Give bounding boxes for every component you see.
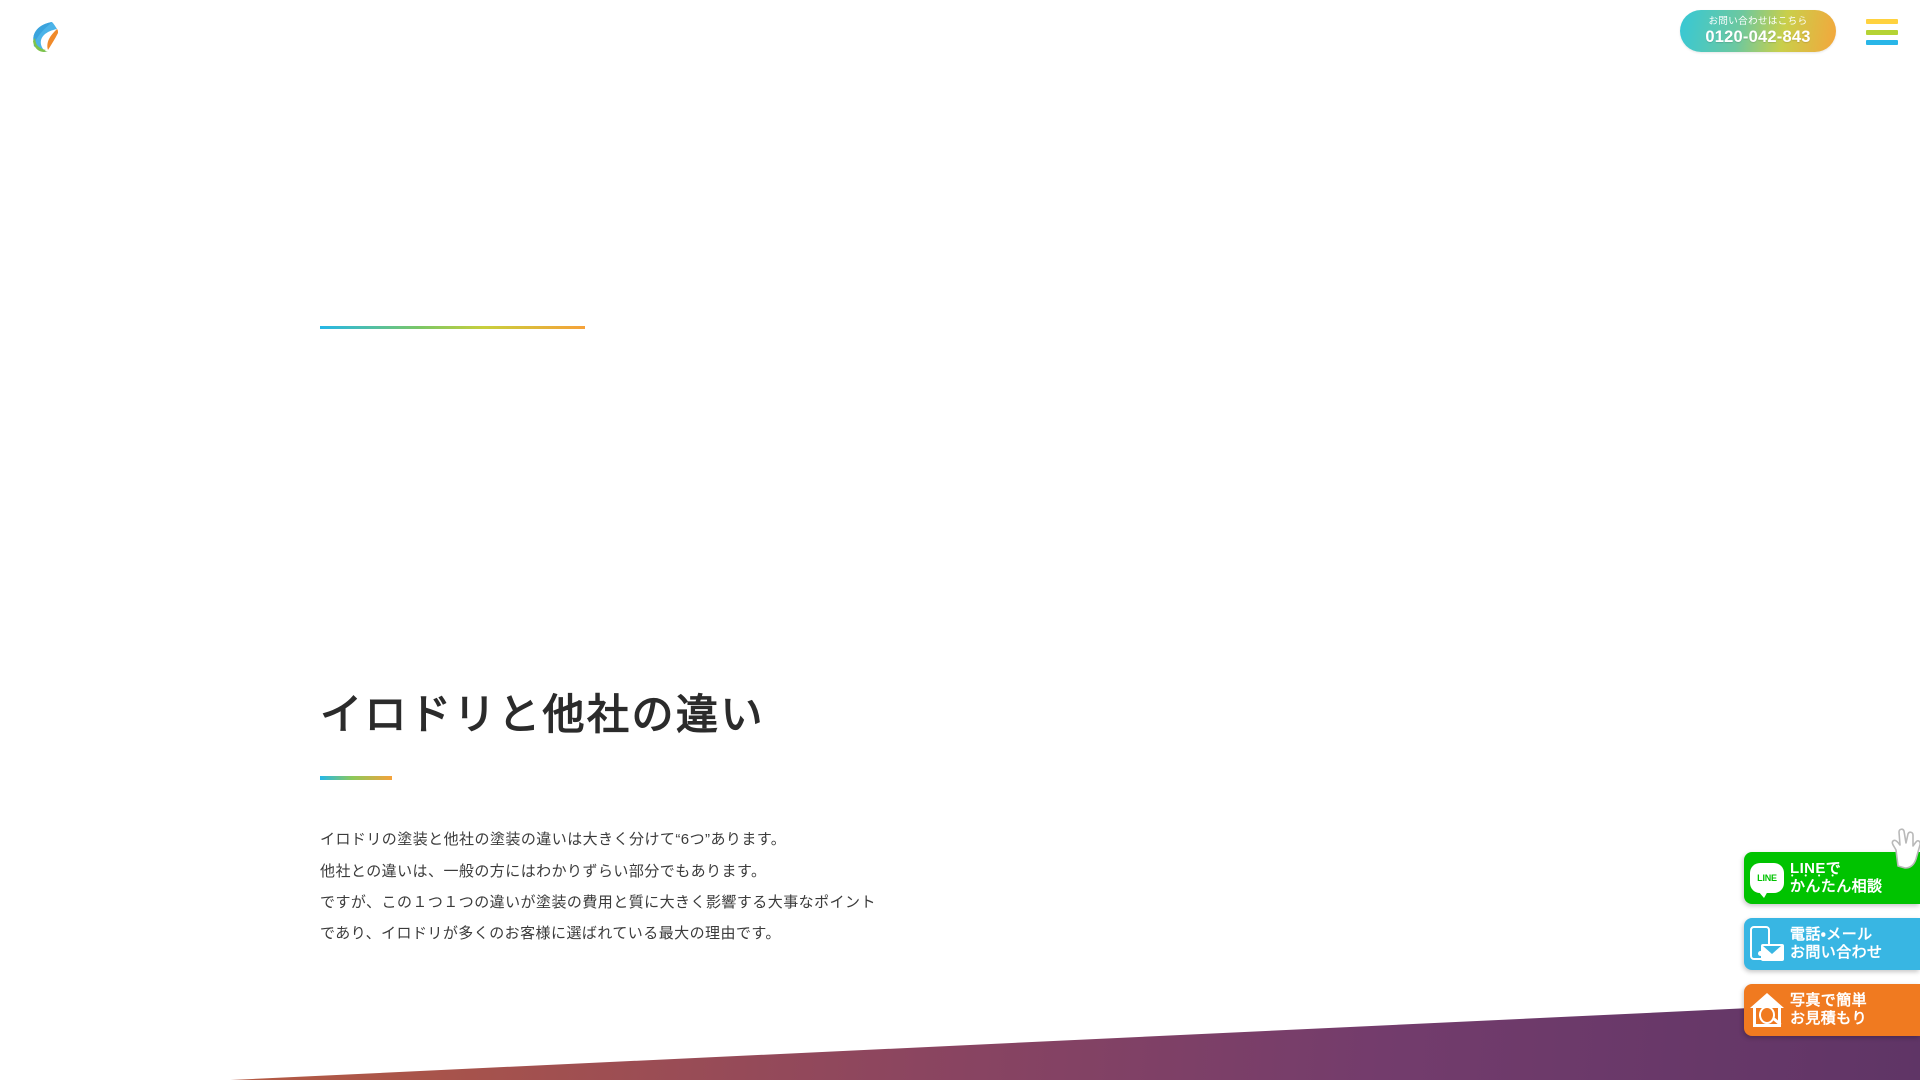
hamburger-bar-2 (1866, 30, 1898, 35)
body-line-3: ですが、この１つ１つの違いが塗装の費用と質に大きく影響する大事なポイント (320, 887, 940, 918)
phone-mail-contact-button[interactable]: 電話・メール お問い合わせ (1744, 918, 1920, 970)
photo-estimate-button-text: 写真で簡単 お見積もり (1790, 992, 1875, 1027)
hamburger-menu-icon[interactable] (1866, 19, 1898, 45)
line-logo-text: LINE (1757, 873, 1777, 883)
line-consult-button[interactable]: LINE LINEで かんたん相談 (1744, 852, 1920, 904)
phone-mail-button-text: 電話・メール お問い合わせ (1790, 926, 1890, 961)
house-magnifier-shape (1750, 993, 1784, 1027)
envelope-shape (1761, 944, 1784, 961)
section-text-column: イロドリと他社の違い イロドリの塗装と他社の塗装の違いは大きく分けて“6つ”あり… (320, 690, 940, 949)
bottom-diagonal-banner (0, 1000, 1920, 1080)
contact-kicker: お問い合わせはこちら (1708, 17, 1807, 27)
page-title: イロドリと他社の違い (320, 690, 940, 740)
line-bubble-shape: LINE (1750, 863, 1784, 893)
line-icon: LINE (1744, 852, 1790, 904)
contact-phone-number: 0120-042-843 (1705, 29, 1810, 46)
line-label-2: かんたん相談 (1790, 878, 1882, 896)
section-body-text: イロドリの塗装と他社の塗装の違いは大きく分けて“6つ”あります。 他社との違いは… (320, 824, 940, 949)
hero-gradient-divider (320, 326, 585, 329)
phone-mail-label-2: お問い合わせ (1790, 944, 1882, 962)
hamburger-bar-1 (1866, 19, 1898, 24)
magnifier-lens (1759, 1006, 1775, 1024)
house-search-icon (1744, 984, 1790, 1036)
site-header: お問い合わせはこちら 0120-042-843 (0, 0, 1920, 70)
site-logo[interactable] (22, 14, 66, 58)
body-line-4: であり、イロドリが多くのお客様に選ばれている最大の理由です。 (320, 918, 940, 949)
phone-mail-label-1: 電話・メール (1790, 926, 1882, 944)
page-root: お問い合わせはこちら 0120-042-843 イロドリと他社の違い イロドリの… (0, 0, 1920, 1080)
photo-label-2: お見積もり (1790, 1010, 1867, 1028)
contact-phone-button[interactable]: お問い合わせはこちら 0120-042-843 (1680, 10, 1836, 52)
title-gradient-underline (320, 776, 392, 780)
hamburger-bar-3 (1866, 40, 1898, 45)
line-button-text: LINEで かんたん相談 (1790, 860, 1890, 895)
phone-mail-icon (1744, 918, 1790, 970)
photo-estimate-button[interactable]: 写真で簡単 お見積もり (1744, 984, 1920, 1036)
floating-contact-widgets: LINE LINEで かんたん相談 電話・メール お問い合わせ (1740, 852, 1920, 1050)
phone-envelope-shape (1750, 926, 1784, 962)
diagonal-wedge (0, 1000, 1920, 1080)
body-line-2: 他社との違いは、一般の方にはわかりずらい部分でもあります。 (320, 856, 940, 887)
logo-swoosh-icon (22, 14, 66, 58)
photo-label-1: 写真で簡単 (1790, 992, 1867, 1010)
body-line-1: イロドリの塗装と他社の塗装の違いは大きく分けて“6つ”あります。 (320, 824, 940, 855)
